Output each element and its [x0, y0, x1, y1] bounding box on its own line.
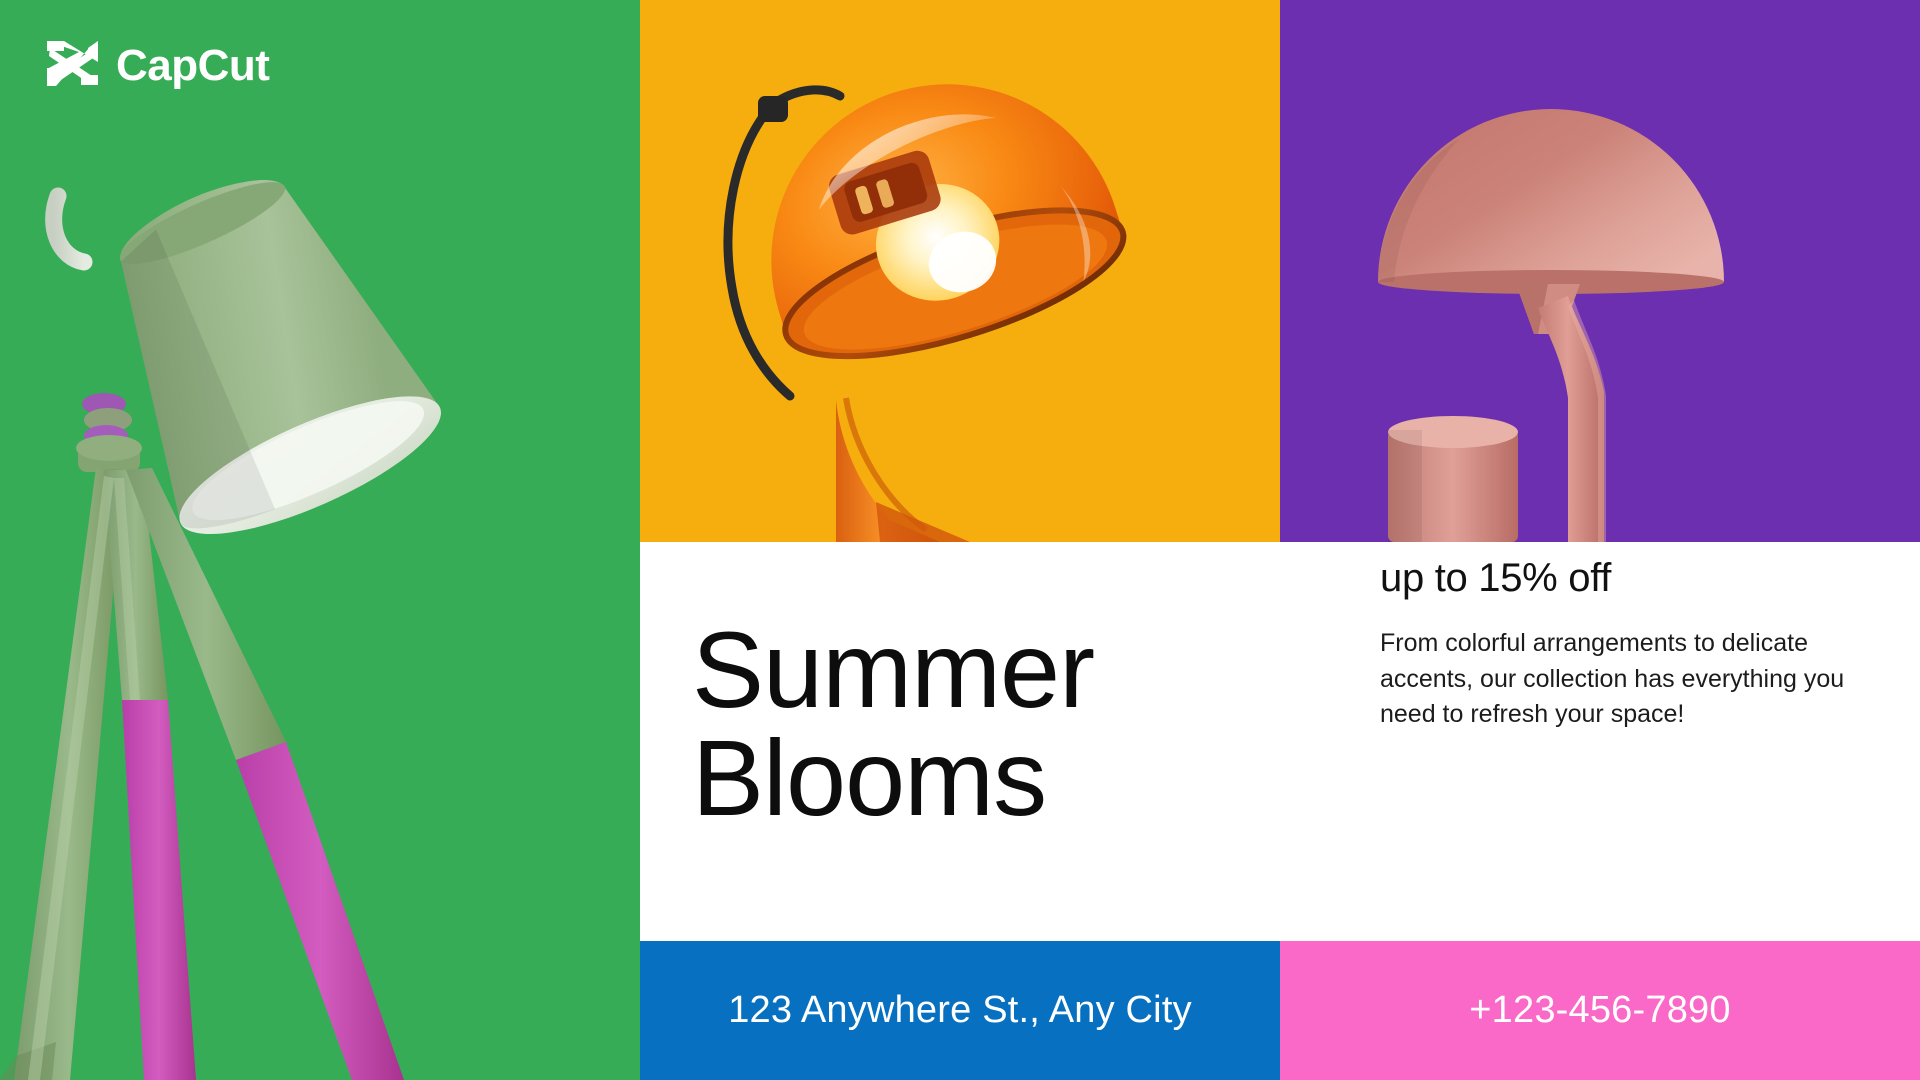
green-tripod-lamp-image — [0, 0, 640, 1080]
center-yellow-panel — [640, 0, 1280, 542]
address-bar: 123 Anywhere St., Any City — [640, 941, 1280, 1080]
capcut-logo-mark-icon — [44, 38, 102, 93]
pink-dome-lamp-image — [1280, 0, 1920, 542]
phone-text: +123-456-7890 — [1469, 989, 1730, 1032]
page-title: Summer Blooms — [692, 616, 1094, 832]
address-text: 123 Anywhere St., Any City — [728, 989, 1192, 1032]
capcut-wordmark: CapCut — [116, 44, 269, 88]
offer-title: up to 15% off — [1380, 556, 1850, 600]
right-purple-panel — [1280, 0, 1920, 542]
capcut-logo[interactable]: CapCut — [44, 38, 269, 93]
phone-bar: +123-456-7890 — [1280, 941, 1920, 1080]
offer-description: From colorful arrangements to delicate a… — [1380, 626, 1850, 733]
content-panel: Summer Blooms up to 15% off From colorfu… — [640, 542, 1920, 941]
offer-block: up to 15% off From colorful arrangements… — [1380, 556, 1850, 733]
orange-dome-lamp-image — [640, 0, 1280, 542]
left-green-panel: CapCut — [0, 0, 640, 1080]
promo-banner: CapCut — [0, 0, 1920, 1080]
